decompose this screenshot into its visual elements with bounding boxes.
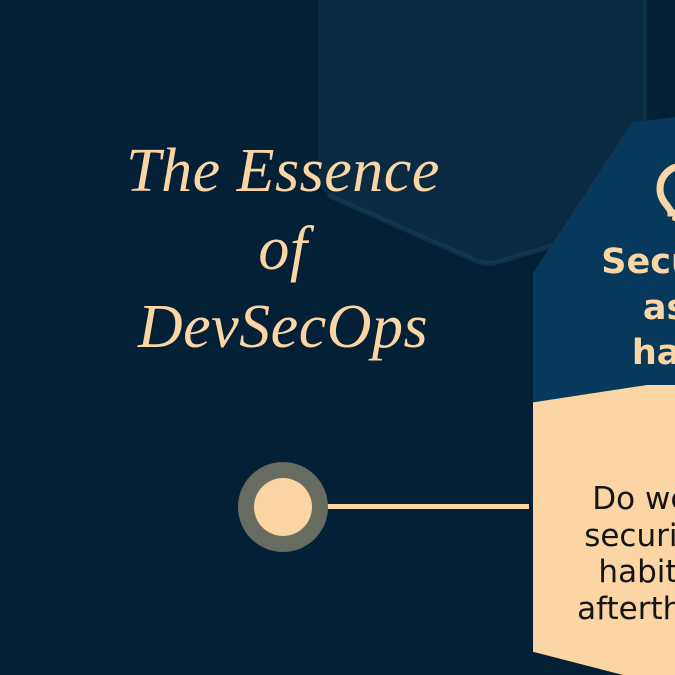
- card-security-habit-line-1: Security: [533, 240, 675, 286]
- card-question-content: Do we treat security as a habit or an af…: [533, 481, 675, 627]
- card-question[interactable]: Do we treat security as a habit or an af…: [533, 385, 675, 675]
- card-question-line-3: habit or an: [598, 554, 675, 590]
- card-question-line-1: Do we treat: [592, 481, 675, 517]
- lightbulb-icon: [655, 164, 675, 226]
- topic-node[interactable]: [238, 462, 328, 552]
- slide-canvas: The Essence of DevSecOps Security as a h…: [0, 0, 675, 675]
- card-question-line-4: afterthought?: [577, 591, 675, 627]
- card-security-habit-line-3: habit: [533, 331, 675, 377]
- card-question-line-2: security as a: [584, 518, 675, 554]
- card-security-habit-line-2: as a: [533, 286, 675, 332]
- topic-node-core: [254, 478, 312, 536]
